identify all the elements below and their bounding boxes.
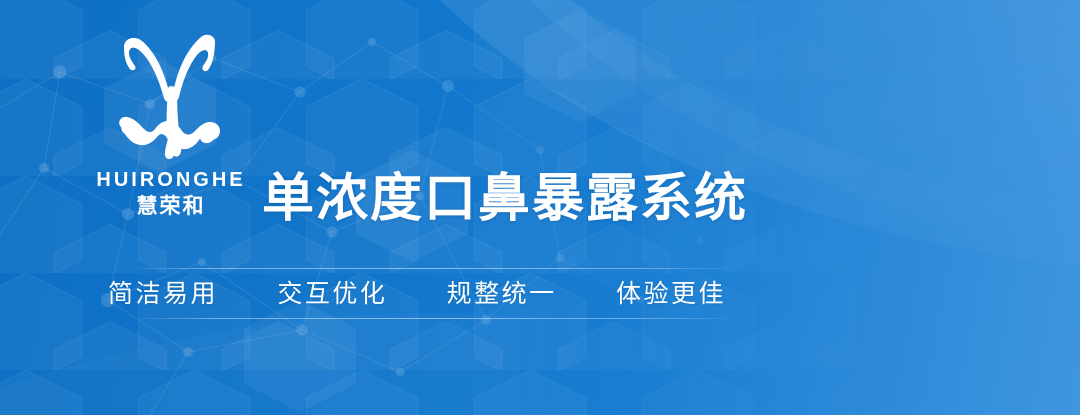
product-banner: HUIRONGHE 慧荣和 单浓度口鼻暴露系统 简洁易用 交互优化 规整统一 体… <box>0 0 1080 415</box>
brand-chinese-name: 慧荣和 <box>137 196 206 217</box>
brand-latin-name: HUIRONGHE <box>96 170 245 190</box>
feature-list: 简洁易用 交互优化 规整统一 体验更佳 <box>108 271 726 317</box>
feature-divider-bottom <box>130 318 742 319</box>
feature-item-3: 规整统一 <box>447 282 557 307</box>
feature-item-1: 简洁易用 <box>108 282 218 307</box>
page-title: 单浓度口鼻暴露系统 <box>262 170 748 230</box>
brand-logo-block: HUIRONGHE 慧荣和 <box>86 34 256 217</box>
feature-item-2: 交互优化 <box>277 282 387 307</box>
feature-item-4: 体验更佳 <box>616 282 726 307</box>
banner-content: HUIRONGHE 慧荣和 单浓度口鼻暴露系统 简洁易用 交互优化 规整统一 体… <box>0 0 1080 415</box>
sprout-plant-logo-icon <box>111 34 231 164</box>
feature-divider-top <box>130 268 742 269</box>
